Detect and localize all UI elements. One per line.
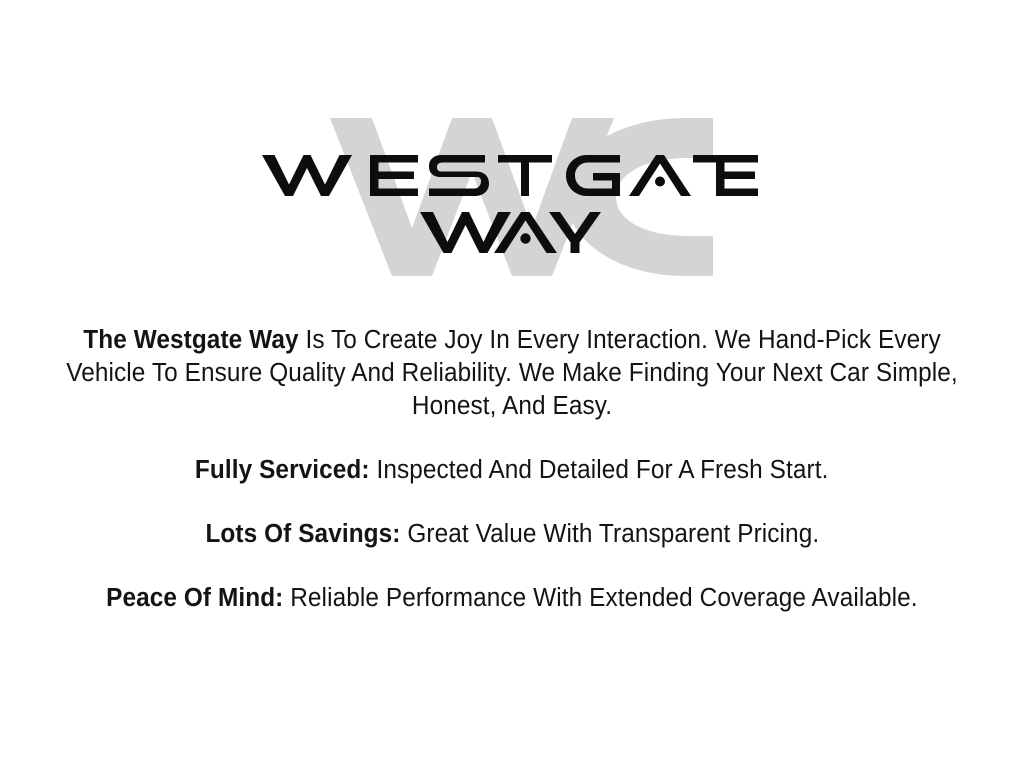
intro-paragraph: The Westgate Way Is To Create Joy In Eve… bbox=[28, 324, 996, 423]
benefit-text-lots-of-savings: Great Value With Transparent Pricing. bbox=[400, 520, 819, 548]
logo-letter-s bbox=[429, 155, 489, 196]
benefit-label-lots-of-savings: Lots Of Savings: bbox=[205, 520, 400, 548]
benefit-text-peace-of-mind: Reliable Performance With Extended Cover… bbox=[283, 584, 917, 612]
logo-letter-t-1 bbox=[498, 155, 552, 196]
benefit-label-fully-serviced: Fully Serviced: bbox=[195, 456, 370, 484]
westgate-way-copy: The Westgate Way Is To Create Joy In Eve… bbox=[28, 324, 996, 615]
logo-letter-w-1 bbox=[262, 155, 352, 196]
promo-page: The Westgate Way Is To Create Joy In Eve… bbox=[0, 0, 1024, 768]
logo-letter-y bbox=[549, 212, 601, 253]
brand-logo-block bbox=[0, 96, 1024, 296]
logo-letter-e-2 bbox=[716, 155, 758, 196]
logo-letter-a-1 bbox=[629, 155, 691, 196]
logo-letter-a-1-dot bbox=[655, 177, 665, 187]
logo-letter-a-2-dot bbox=[520, 233, 530, 243]
benefit-label-peace-of-mind: Peace Of Mind: bbox=[106, 584, 283, 612]
intro-lede: The Westgate Way bbox=[83, 326, 298, 354]
benefit-lots-of-savings: Lots Of Savings: Great Value With Transp… bbox=[28, 518, 996, 551]
logo-letter-g bbox=[566, 155, 620, 196]
benefit-fully-serviced: Fully Serviced: Inspected And Detailed F… bbox=[28, 454, 996, 487]
benefit-peace-of-mind: Peace Of Mind: Reliable Performance With… bbox=[28, 582, 996, 615]
logo-letter-e-1 bbox=[370, 155, 418, 196]
logo-letter-w-2 bbox=[420, 212, 511, 253]
benefit-text-fully-serviced: Inspected And Detailed For A Fresh Start… bbox=[370, 456, 829, 484]
westgate-way-wordmark bbox=[0, 96, 1024, 296]
